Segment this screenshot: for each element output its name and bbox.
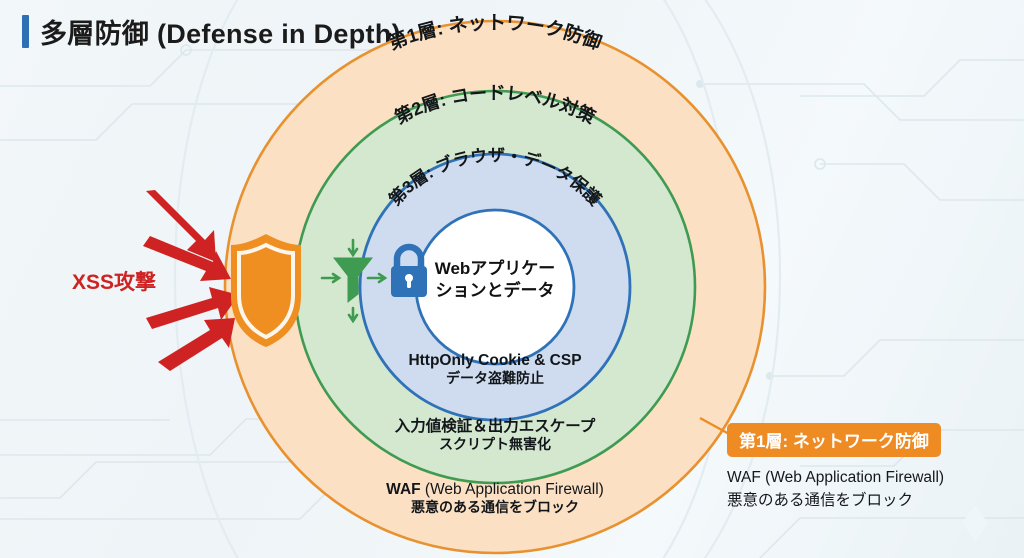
core-label: Webアプリケー ションとデータ: [395, 258, 595, 302]
layer1-bottom-text: WAF (Web Application Firewall) 悪意のある通信をブ…: [285, 481, 705, 516]
callout-body: WAF (Web Application Firewall) 悪意のある通信をブ…: [727, 466, 1007, 513]
layer1-bottom-sub: 悪意のある通信をブロック: [285, 499, 705, 516]
callout-line-2: 悪意のある通信をブロック: [727, 489, 1007, 512]
core-line-2: ションとデータ: [395, 280, 595, 302]
waf-strong: WAF: [386, 481, 420, 498]
callout-line-1: WAF (Web Application Firewall): [727, 466, 1007, 489]
layer1-bottom-title: WAF (Web Application Firewall): [285, 481, 705, 499]
layer3-bottom-sub: データ盗難防止: [285, 370, 705, 387]
layer3-bottom-title: HttpOnly Cookie & CSP: [285, 352, 705, 370]
layer2-bottom-text: 入力値検証＆出力エスケープ スクリプト無害化: [285, 418, 705, 453]
callout-box: 第1層: ネットワーク防御 WAF (Web Application Firew…: [727, 423, 1007, 513]
core-line-1: Webアプリケー: [395, 258, 595, 280]
xss-attack-label: XSS攻撃: [72, 266, 156, 296]
layer2-bottom-title: 入力値検証＆出力エスケープ: [285, 418, 705, 436]
callout-badge: 第1層: ネットワーク防御: [727, 423, 941, 457]
waf-expansion: (Web Application Firewall): [421, 481, 604, 498]
layer3-bottom-text: HttpOnly Cookie & CSP データ盗難防止: [285, 352, 705, 387]
layer2-bottom-sub: スクリプト無害化: [285, 436, 705, 453]
